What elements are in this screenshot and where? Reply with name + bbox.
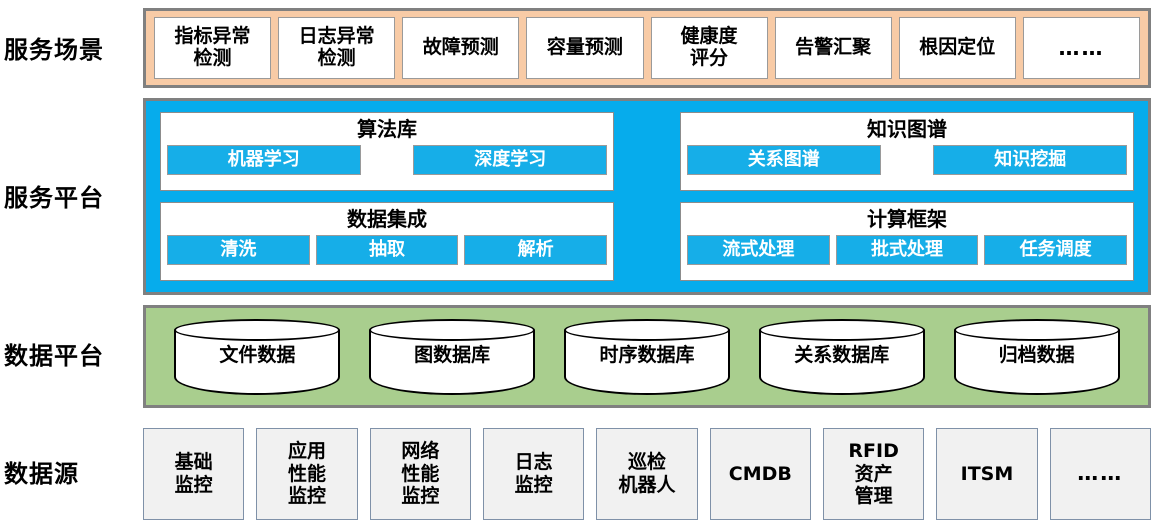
scenario-card-capacity-prediction[interactable]: 容量预测	[526, 17, 643, 79]
database-cylinder-archive-data[interactable]: 归档数据	[954, 319, 1120, 395]
source-card-itsm[interactable]: ITSM	[936, 428, 1037, 520]
source-card-npm[interactable]: 网络 性能 监控	[370, 428, 471, 520]
source-card-more[interactable]: ……	[1050, 428, 1151, 520]
pill-deep-learning[interactable]: 深度学习	[413, 145, 607, 175]
platform-card-compute-framework: 计算框架 流式处理 批式处理 任务调度	[680, 202, 1134, 281]
cylinder-top-icon	[759, 319, 925, 341]
scenario-card-log-anomaly[interactable]: 日志异常 检测	[278, 17, 395, 79]
cylinder-label: 时序数据库	[564, 345, 730, 366]
cylinder-top-icon	[564, 319, 730, 341]
architecture-diagram: 服务场景 指标异常 检测 日志异常 检测 故障预测 容量预测 健康度 评分 告警…	[0, 0, 1159, 530]
scenario-card-fault-prediction[interactable]: 故障预测	[402, 17, 519, 79]
cylinder-label: 文件数据	[174, 345, 340, 366]
platform-card-title: 算法库	[357, 117, 417, 142]
data-platform-band: 文件数据 图数据库 时序数据库 关系数据库 归档数据	[143, 305, 1151, 408]
pill-row: 关系图谱 知识挖掘	[687, 145, 1127, 175]
pill-knowledge-mining[interactable]: 知识挖掘	[933, 145, 1127, 175]
pill-row: 清洗 抽取 解析	[167, 235, 607, 265]
database-cylinder-graph-db[interactable]: 图数据库	[369, 319, 535, 395]
pill-stream-processing[interactable]: 流式处理	[687, 235, 830, 265]
database-cylinder-file-data[interactable]: 文件数据	[174, 319, 340, 395]
row-label-service-platform: 服务平台	[4, 186, 104, 210]
source-card-infrastructure-monitoring[interactable]: 基础 监控	[143, 428, 244, 520]
platform-card-knowledge-graph: 知识图谱 关系图谱 知识挖掘	[680, 112, 1134, 191]
scenario-card-alarm-aggregation[interactable]: 告警汇聚	[775, 17, 892, 79]
pill-cleaning[interactable]: 清洗	[167, 235, 310, 265]
platform-card-algorithm-library: 算法库 机器学习 深度学习	[160, 112, 614, 191]
source-card-rfid-asset-management[interactable]: RFID 资产 管理	[823, 428, 924, 520]
database-cylinder-timeseries-db[interactable]: 时序数据库	[564, 319, 730, 395]
service-platform-band: 算法库 机器学习 深度学习 知识图谱 关系图谱 知识挖掘 数据集成 清洗 抽取 …	[143, 98, 1151, 295]
source-card-log-monitoring[interactable]: 日志 监控	[483, 428, 584, 520]
pill-machine-learning[interactable]: 机器学习	[167, 145, 361, 175]
source-card-inspection-robot[interactable]: 巡检 机器人	[596, 428, 697, 520]
database-cylinder-relational-db[interactable]: 关系数据库	[759, 319, 925, 395]
pill-task-scheduling[interactable]: 任务调度	[984, 235, 1127, 265]
pill-batch-processing[interactable]: 批式处理	[836, 235, 979, 265]
scenario-card-metric-anomaly[interactable]: 指标异常 检测	[154, 17, 271, 79]
scenario-card-health-score[interactable]: 健康度 评分	[651, 17, 768, 79]
platform-card-title: 计算框架	[867, 207, 947, 232]
data-source-row: 基础 监控 应用 性能 监控 网络 性能 监控 日志 监控 巡检 机器人 CMD…	[143, 428, 1151, 520]
service-scenario-band: 指标异常 检测 日志异常 检测 故障预测 容量预测 健康度 评分 告警汇聚 根因…	[143, 8, 1151, 88]
platform-card-title: 数据集成	[347, 207, 427, 232]
pill-row: 机器学习 深度学习	[167, 145, 607, 175]
scenario-card-root-cause[interactable]: 根因定位	[899, 17, 1016, 79]
cylinder-label: 归档数据	[954, 345, 1120, 366]
row-label-data-platform: 数据平台	[4, 344, 104, 368]
source-card-cmdb[interactable]: CMDB	[710, 428, 811, 520]
cylinder-label: 图数据库	[369, 345, 535, 366]
cylinder-top-icon	[174, 319, 340, 341]
cylinder-top-icon	[369, 319, 535, 341]
platform-card-data-integration: 数据集成 清洗 抽取 解析	[160, 202, 614, 281]
row-label-data-source: 数据源	[4, 462, 79, 486]
pill-parsing[interactable]: 解析	[464, 235, 607, 265]
source-card-apm[interactable]: 应用 性能 监控	[256, 428, 357, 520]
cylinder-top-icon	[954, 319, 1120, 341]
cylinder-label: 关系数据库	[759, 345, 925, 366]
platform-card-title: 知识图谱	[867, 117, 947, 142]
row-label-service-scenario: 服务场景	[4, 38, 104, 62]
pill-relation-graph[interactable]: 关系图谱	[687, 145, 881, 175]
pill-extraction[interactable]: 抽取	[316, 235, 459, 265]
pill-row: 流式处理 批式处理 任务调度	[687, 235, 1127, 265]
scenario-card-more[interactable]: ……	[1023, 17, 1140, 79]
